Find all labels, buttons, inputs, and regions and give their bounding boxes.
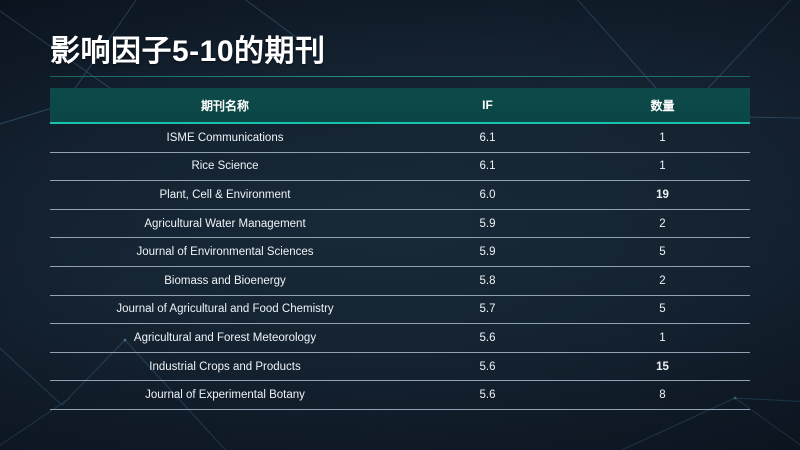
cell-journal-name: Biomass and Bioenergy	[50, 275, 400, 287]
table-row: Industrial Crops and Products5.615	[50, 353, 750, 382]
cell-count: 15	[575, 361, 750, 373]
cell-if: 6.1	[400, 160, 575, 172]
journal-table: 期刊名称 IF 数量 ISME Communications6.11Rice S…	[50, 88, 750, 410]
column-header-journal-name: 期刊名称	[50, 97, 400, 114]
table-row: Biomass and Bioenergy5.82	[50, 267, 750, 296]
cell-if: 6.1	[400, 132, 575, 144]
cell-count: 8	[575, 389, 750, 401]
cell-count: 1	[575, 132, 750, 144]
cell-if: 5.6	[400, 389, 575, 401]
cell-count: 5	[575, 303, 750, 315]
cell-count: 2	[575, 275, 750, 287]
cell-count: 1	[575, 332, 750, 344]
page-title: 影响因子5-10的期刊	[50, 26, 326, 70]
title-divider	[50, 76, 750, 77]
table-row: Agricultural and Forest Meteorology5.61	[50, 324, 750, 353]
table-row: Journal of Environmental Sciences5.95	[50, 238, 750, 267]
cell-journal-name: Agricultural Water Management	[50, 218, 400, 230]
cell-journal-name: Plant, Cell & Environment	[50, 189, 400, 201]
table-row: Agricultural Water Management5.92	[50, 210, 750, 239]
table-body: ISME Communications6.11Rice Science6.11P…	[50, 124, 750, 410]
cell-if: 5.6	[400, 361, 575, 373]
cell-if: 5.6	[400, 332, 575, 344]
cell-journal-name: Agricultural and Forest Meteorology	[50, 332, 400, 344]
cell-if: 5.7	[400, 303, 575, 315]
cell-journal-name: Journal of Agricultural and Food Chemist…	[50, 303, 400, 315]
table-header-row: 期刊名称 IF 数量	[50, 88, 750, 124]
table-row: ISME Communications6.11	[50, 124, 750, 153]
cell-if: 5.9	[400, 246, 575, 258]
cell-if: 5.8	[400, 275, 575, 287]
cell-if: 6.0	[400, 189, 575, 201]
cell-journal-name: Industrial Crops and Products	[50, 361, 400, 373]
cell-journal-name: Journal of Environmental Sciences	[50, 246, 400, 258]
table-row: Plant, Cell & Environment6.019	[50, 181, 750, 210]
cell-count: 2	[575, 218, 750, 230]
cell-count: 5	[575, 246, 750, 258]
column-header-if: IF	[400, 98, 575, 112]
slide-canvas: 影响因子5-10的期刊 期刊名称 IF 数量 ISME Communicatio…	[0, 0, 800, 450]
cell-journal-name: Rice Science	[50, 160, 400, 172]
cell-count: 19	[575, 189, 750, 201]
table-row: Rice Science6.11	[50, 153, 750, 182]
column-header-count: 数量	[575, 97, 750, 114]
cell-count: 1	[575, 160, 750, 172]
table-row: Journal of Experimental Botany5.68	[50, 381, 750, 410]
table-row: Journal of Agricultural and Food Chemist…	[50, 296, 750, 325]
cell-journal-name: ISME Communications	[50, 132, 400, 144]
cell-if: 5.9	[400, 218, 575, 230]
cell-journal-name: Journal of Experimental Botany	[50, 389, 400, 401]
